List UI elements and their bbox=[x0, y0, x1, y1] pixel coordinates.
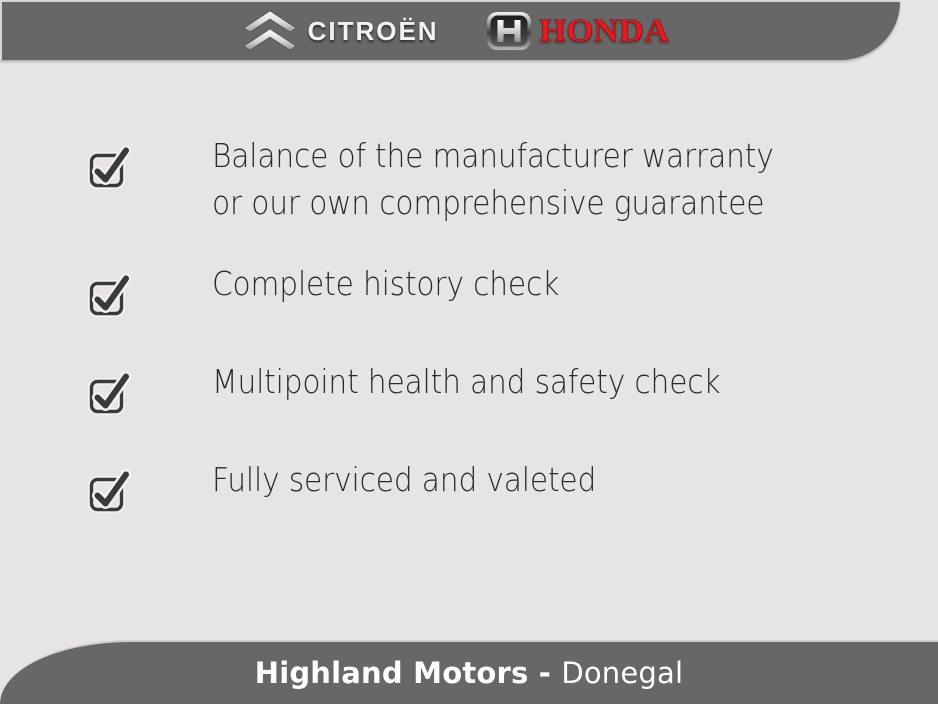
checkbox-checked-icon bbox=[86, 468, 134, 516]
checkbox-cell bbox=[0, 456, 212, 516]
checkbox-checked-icon bbox=[86, 272, 134, 320]
feature-item: Complete history check bbox=[0, 260, 938, 358]
dealer-location: Donegal bbox=[561, 656, 683, 690]
checkbox-cell bbox=[0, 132, 212, 192]
slide-root: CITROËN bbox=[0, 0, 938, 704]
feature-list: Balance of the manufacturer warranty or … bbox=[0, 132, 938, 554]
brand-lockup-citroen: CITROËN bbox=[241, 8, 439, 54]
dealer-footer-bar: Highland Motors - Donegal bbox=[0, 640, 938, 704]
feature-label: Balance of the manufacturer warranty or … bbox=[212, 132, 774, 226]
feature-item: Balance of the manufacturer warranty or … bbox=[0, 132, 938, 260]
checkbox-cell bbox=[0, 260, 212, 320]
honda-h-emblem-icon bbox=[485, 10, 533, 52]
dealer-strip: Highland Motors - Donegal bbox=[255, 659, 684, 688]
feature-item: Multipoint health and safety check bbox=[0, 358, 938, 456]
feature-label: Fully serviced and valeted bbox=[212, 456, 596, 503]
checkbox-checked-icon bbox=[86, 144, 134, 192]
dealer-separator: - bbox=[528, 656, 561, 690]
feature-label: Multipoint health and safety check bbox=[212, 358, 720, 405]
brand-lockup-honda: HONDA bbox=[485, 8, 662, 54]
dealer-name: Highland Motors bbox=[255, 656, 529, 690]
feature-label: Complete history check bbox=[212, 260, 559, 307]
citroen-wordmark: CITROËN bbox=[308, 18, 439, 44]
honda-wordmark: HONDA bbox=[539, 15, 669, 48]
brand-header-bar: CITROËN bbox=[0, 0, 900, 60]
checkbox-cell bbox=[0, 358, 212, 418]
citroen-chevrons-icon bbox=[241, 9, 299, 53]
feature-item: Fully serviced and valeted bbox=[0, 456, 938, 554]
checkbox-checked-icon bbox=[86, 370, 134, 418]
